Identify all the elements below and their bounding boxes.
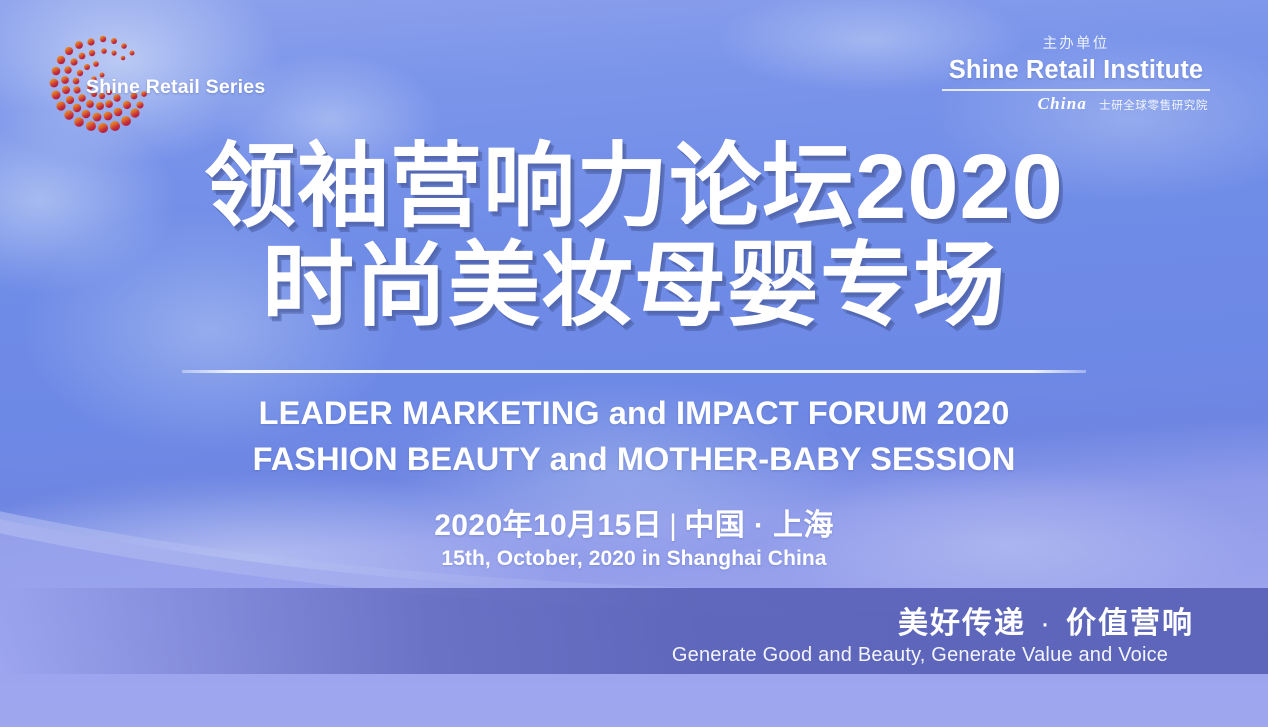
headline-line-1: 领袖营响力论坛2020 (0, 138, 1268, 237)
slogan-cn-right: 价值营响 (1066, 607, 1194, 640)
shine-retail-series-logo: Shine Retail Series (44, 30, 304, 150)
subtitle-line-2: FASHION BEAUTY and MOTHER-BABY SESSION (0, 436, 1268, 482)
host-label: 主办单位 (942, 32, 1210, 53)
subtitle: LEADER MARKETING and IMPACT FORUM 2020 F… (0, 390, 1268, 482)
slogan-cn: 美好传递·价值营响 (640, 598, 1200, 642)
event-date-location-cn: 2020年10月15日|中国 · 上海 (0, 500, 1268, 544)
subtitle-line-1: LEADER MARKETING and IMPACT FORUM 2020 (0, 390, 1268, 436)
slogan: 美好传递·价值营响 Generate Good and Beauty, Gene… (640, 598, 1200, 667)
institute-cn-name: 士研全球零售研究院 (1099, 97, 1208, 113)
event-details: 2020年10月15日|中国 · 上海 15th, October, 2020 … (0, 500, 1268, 571)
headline-line-2: 时尚美妆母婴专场 (0, 237, 1268, 336)
institute-country: China (1038, 94, 1087, 114)
institute-name: Shine Retail Institute (942, 56, 1210, 85)
headline-divider (182, 370, 1086, 373)
institute-lockup: 主办单位 Shine Retail Institute China 士研全球零售… (942, 32, 1210, 114)
slogan-dot: · (1026, 607, 1066, 640)
slogan-en: Generate Good and Beauty, Generate Value… (640, 644, 1200, 667)
series-wordmark: Shine Retail Series (86, 76, 265, 99)
event-location-cn: 中国 · 上海 (684, 509, 833, 542)
event-separator: | (662, 509, 684, 542)
institute-subline: China 士研全球零售研究院 (942, 94, 1210, 114)
event-date-location-en: 15th, October, 2020 in Shanghai China (0, 547, 1268, 571)
slogan-cn-left: 美好传递 (898, 607, 1026, 640)
event-date-cn: 2020年10月15日 (434, 509, 662, 542)
institute-divider (942, 89, 1210, 91)
page-title: 领袖营响力论坛2020 时尚美妆母婴专场 (0, 138, 1268, 337)
event-poster: Shine Retail Series 主办单位 Shine Retail In… (0, 0, 1268, 727)
